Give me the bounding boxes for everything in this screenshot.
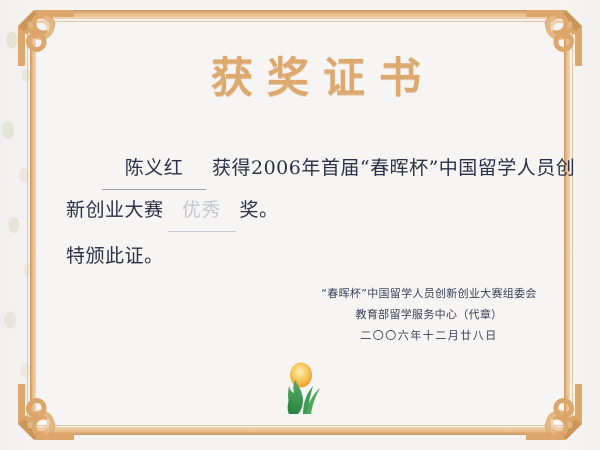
corner-knot-ornament-icon — [522, 380, 586, 444]
recipient-name: 陈义红 — [102, 148, 206, 190]
issuing-department: 教育部留学服务中心（代章） — [300, 304, 558, 325]
certificate-title: 获奖证书 — [0, 44, 600, 105]
body-line-1: 陈义红获得2006年首届“春晖杯”中国留学人员创 — [66, 148, 536, 190]
body-line-1-text: 获得2006年首届“春晖杯”中国留学人员创 — [212, 157, 575, 179]
body-line-2: 新创业大赛优秀奖。 — [66, 190, 536, 232]
award-level: 优秀 — [168, 190, 236, 232]
chunhui-cup-logo-icon — [270, 356, 332, 418]
certificate-body: 陈义红获得2006年首届“春晖杯”中国留学人员创 新创业大赛优秀奖。 特颁此证。 — [66, 148, 536, 276]
certificate-page: 获奖证书 陈义红获得2006年首届“春晖杯”中国留学人员创 新创业大赛优秀奖。 … — [0, 0, 600, 450]
frame-hairline-top — [36, 21, 564, 22]
issue-date: 二〇〇六年十二月廿八日 — [300, 325, 558, 346]
frame-border-bottom — [36, 427, 564, 435]
issuing-organization: “春晖杯”中国留学人员创新创业大赛组委会 — [300, 283, 558, 304]
body-line-2-suffix: 奖。 — [240, 199, 279, 221]
body-line-3-text: 特颁此证。 — [66, 245, 164, 267]
corner-knot-ornament-icon — [14, 380, 78, 444]
signature-block: “春晖杯”中国留学人员创新创业大赛组委会 教育部留学服务中心（代章） 二〇〇六年… — [300, 283, 558, 346]
body-line-3: 特颁此证。 — [66, 236, 536, 276]
body-line-2-prefix: 新创业大赛 — [66, 199, 164, 221]
frame-hairline-bottom — [36, 425, 564, 426]
frame-border-top — [36, 10, 564, 19]
